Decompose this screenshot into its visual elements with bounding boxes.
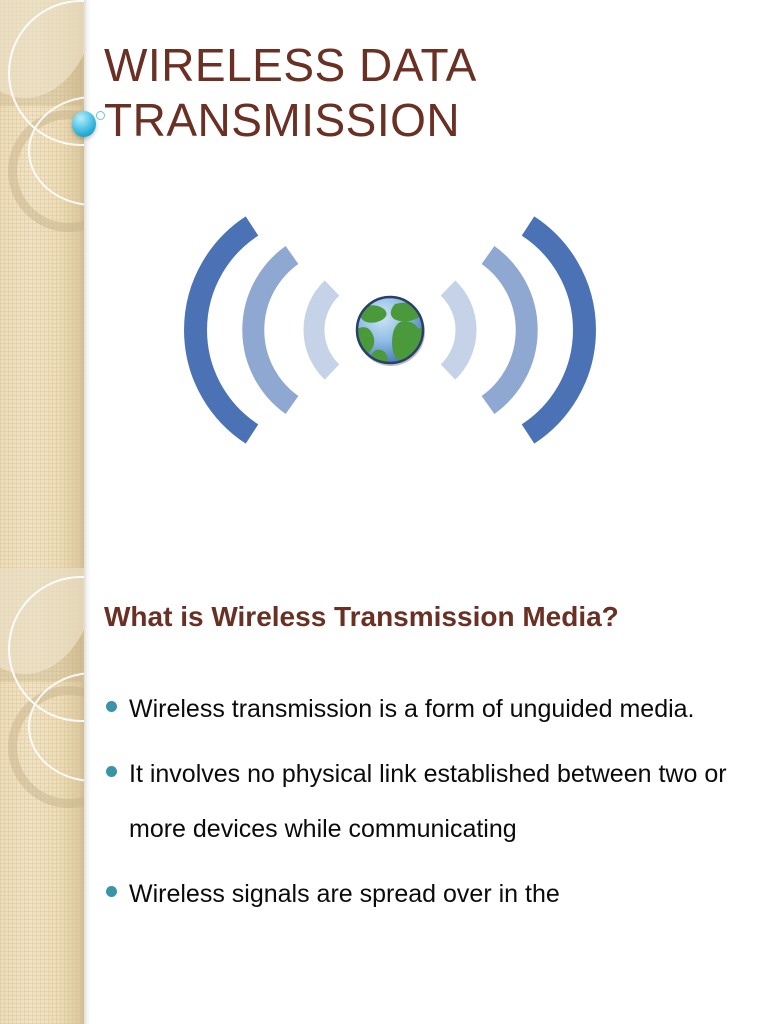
list-item: Wireless transmission is a form of ungui…: [104, 682, 744, 737]
bullet-dot-icon: [106, 886, 117, 897]
bullet-dot-icon: [106, 766, 117, 777]
list-item-text: It involves no physical link established…: [129, 760, 727, 843]
wireless-arcs-left: [196, 226, 332, 434]
sidebar-edge-shadow: [84, 0, 91, 1024]
sidebar-motif-top: [0, 0, 84, 492]
list-item: Wireless signals are spread over in the: [104, 867, 744, 922]
slide-title: WIRELESS DATA TRANSMISSION: [104, 38, 724, 148]
wireless-arcs-right: [448, 226, 584, 434]
list-item: It involves no physical link established…: [104, 747, 744, 857]
sidebar-motif-bottom: [0, 568, 84, 1024]
globe-icon: [353, 297, 428, 369]
bullet-list: Wireless transmission is a form of ungui…: [104, 682, 744, 932]
list-item-text: Wireless signals are spread over in the: [129, 880, 560, 908]
accent-sphere-icon: [72, 111, 96, 137]
bullet-dot-icon: [106, 701, 117, 712]
list-item-text: Wireless transmission is a form of ungui…: [129, 695, 695, 723]
presentation-slide: WIRELESS DATA TRANSMISSION: [0, 0, 768, 1024]
wireless-signal-globe-graphic: [180, 212, 600, 480]
body-heading: What is Wireless Transmission Media?: [104, 600, 744, 634]
slide-sidebar-decoration: [0, 0, 84, 1024]
